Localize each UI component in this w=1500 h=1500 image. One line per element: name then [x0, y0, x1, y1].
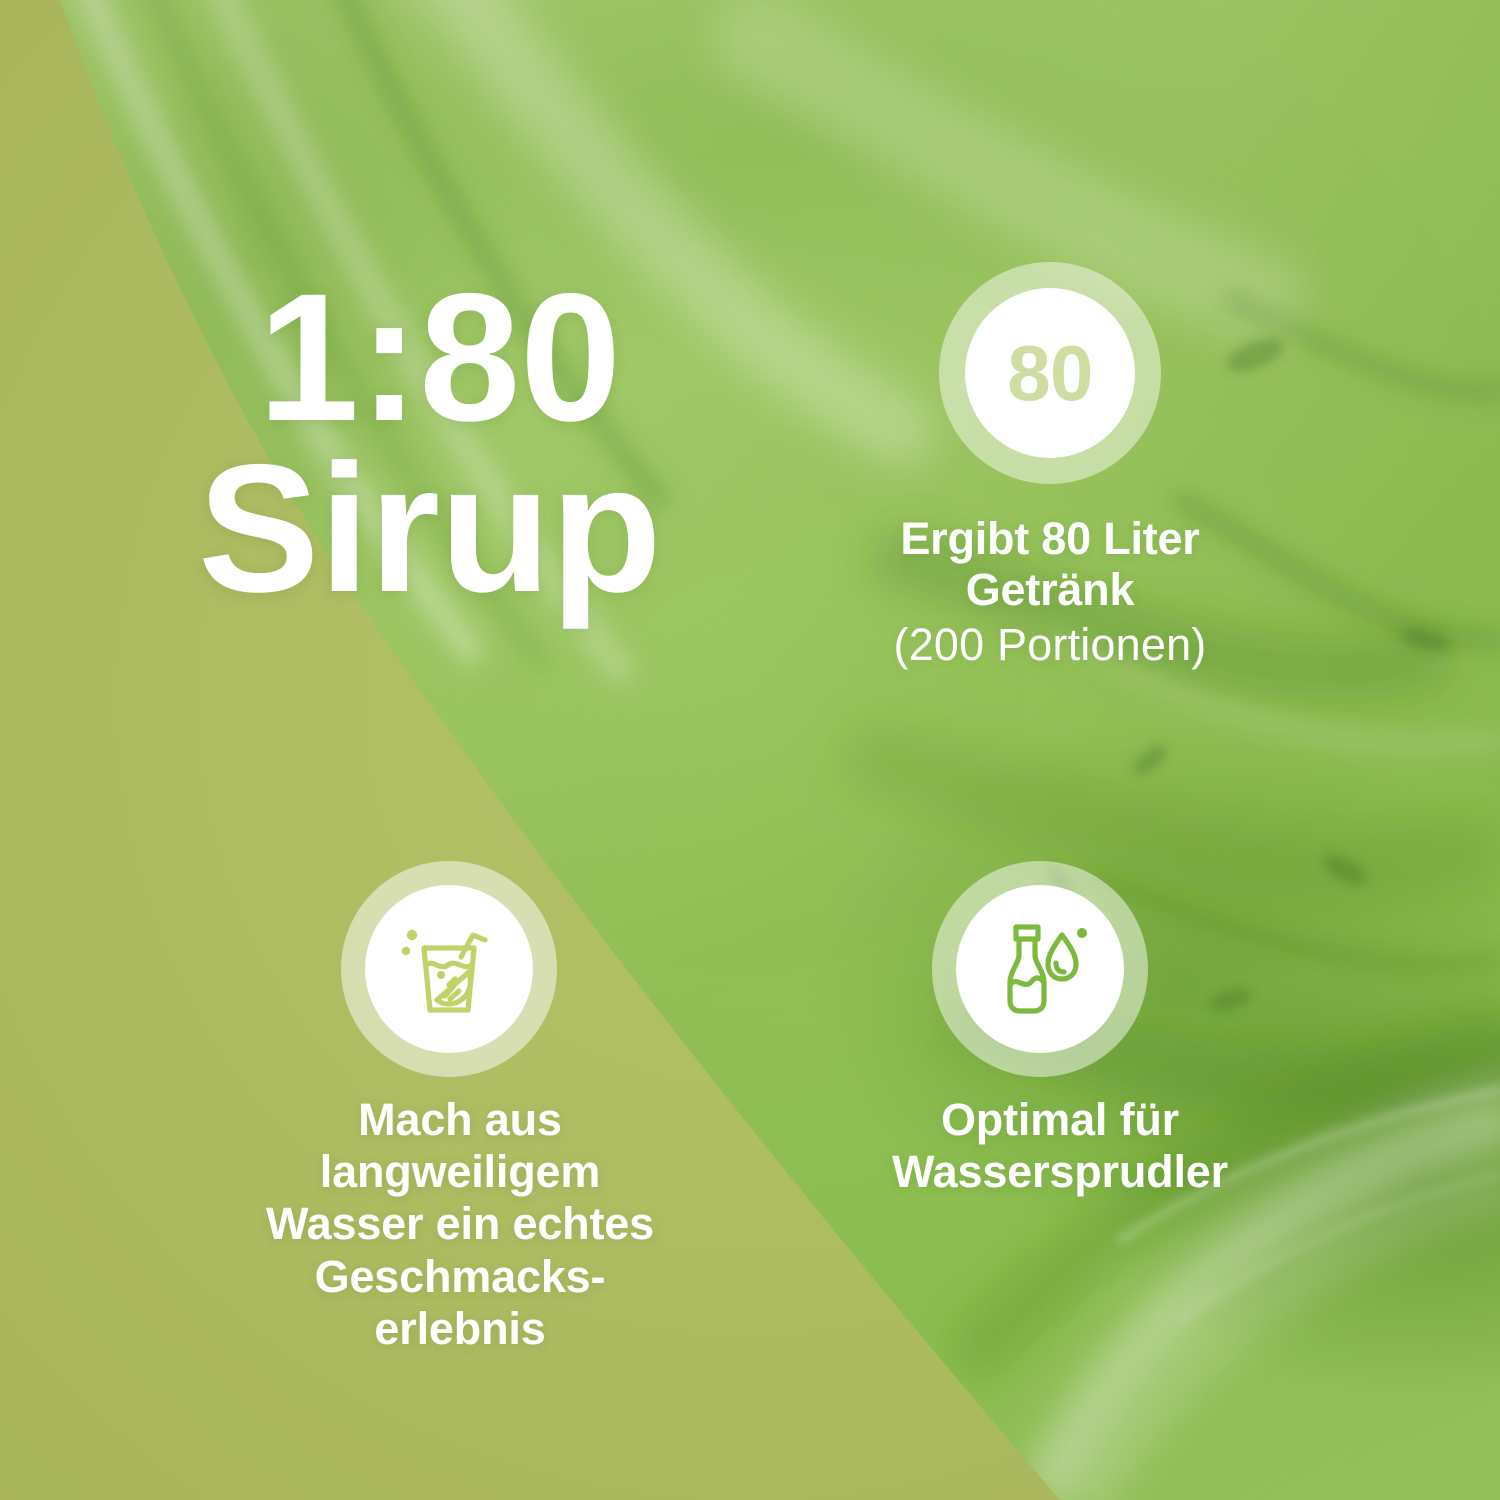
feature-taste-line-5: erlebnis [196, 1303, 724, 1355]
feature-sparkling-line-1: Optimal für [836, 1094, 1284, 1146]
yield-caption-portions: (200 Portionen) [830, 618, 1270, 671]
drink-glass-with-straw-and-lemon-icon [393, 913, 505, 1025]
headline-product: Sirup [198, 443, 661, 614]
product-infographic-poster: 1:80 Sirup 80 Ergibt 80 Liter Getränk (2… [0, 0, 1500, 1500]
feature-taste-line-4: Geschmacks- [196, 1251, 724, 1303]
yield-badge-caption: Ergibt 80 Liter Getränk (200 Portionen) [830, 514, 1270, 671]
feature-icon-inner-sparkling [956, 885, 1124, 1053]
feature-icon-circle-taste [341, 861, 557, 1077]
bottle-with-water-drop-icon [984, 913, 1096, 1025]
yield-badge-inner-circle: 80 [965, 288, 1135, 458]
feature-taste-line-2: langweiligem [196, 1146, 724, 1198]
yield-badge-number: 80 [1007, 334, 1092, 412]
feature-caption-sparkling: Optimal für Wassersprudler [836, 1094, 1284, 1198]
feature-taste-line-3: Wasser ein echtes [196, 1198, 724, 1250]
page-title: 1:80 Sirup [258, 272, 661, 614]
yield-caption-line-2: Getränk [830, 565, 1270, 616]
feature-caption-taste: Mach aus langweiligem Wasser ein echtes … [196, 1094, 724, 1355]
feature-sparkling-line-2: Wassersprudler [836, 1146, 1284, 1198]
feature-taste-line-1: Mach aus [196, 1094, 724, 1146]
feature-icon-circle-sparkling [932, 861, 1148, 1077]
yield-caption-line-1: Ergibt 80 Liter [830, 514, 1270, 565]
headline-ratio: 1:80 [258, 272, 661, 443]
feature-icon-inner-taste [365, 885, 533, 1053]
yield-badge: 80 [939, 262, 1161, 484]
